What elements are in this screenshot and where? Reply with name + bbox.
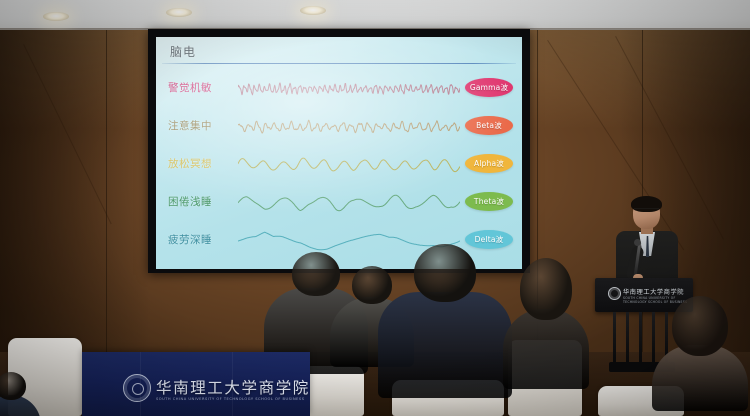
eeg-band-badge: Theta波: [465, 192, 513, 211]
ceiling-downlight-left: [43, 12, 69, 21]
ceiling-downlight-right: [300, 6, 326, 15]
university-seal-inner-icon: [132, 383, 144, 395]
eeg-wave-row: 放松冥想Alpha波: [156, 146, 522, 184]
eeg-waveform-theta: [238, 184, 460, 222]
eeg-wave-row-group: 警觉机敏Gamma波注意集中Beta波放松冥想Alpha波困倦浅睡Theta波疲…: [156, 70, 522, 260]
podium-leg: [652, 312, 655, 364]
podium-organization-cn: 华南理工大学商学院: [623, 287, 684, 296]
podium-leg: [613, 312, 616, 364]
eeg-wave-row: 警觉机敏Gamma波: [156, 70, 522, 108]
university-seal-icon: [123, 374, 151, 402]
eeg-waveform-alpha: [238, 146, 460, 184]
audience-head: [352, 266, 392, 304]
eeg-wave-label: 疲劳深睡: [168, 232, 236, 247]
wall-seam: [106, 30, 107, 360]
banner-organization-cn: 华南理工大学商学院: [156, 376, 310, 398]
audience-head: [672, 296, 728, 356]
eeg-wave-label: 警觉机敏: [168, 80, 236, 95]
podium-logo-icon: [608, 287, 621, 300]
podium-leg: [626, 312, 629, 364]
eeg-band-badge: Beta波: [465, 116, 513, 135]
ceiling-downlight-center: [166, 8, 192, 17]
slide-title-rule: [162, 63, 516, 64]
eeg-waveform-beta: [238, 108, 460, 146]
eeg-wave-label: 困倦浅睡: [168, 194, 236, 209]
eeg-band-badge: Gamma波: [465, 78, 513, 97]
presentation-photo-scene: 脑电 警觉机敏Gamma波注意集中Beta波放松冥想Alpha波困倦浅睡Thet…: [0, 0, 750, 416]
eeg-wave-label: 注意集中: [168, 118, 236, 133]
eeg-wave-row: 注意集中Beta波: [156, 108, 522, 146]
eeg-waveform-gamma: [238, 70, 460, 108]
audience-head: [292, 252, 340, 296]
slide-title: 脑电: [170, 43, 196, 60]
audience-head: [0, 372, 26, 400]
audience-head: [520, 258, 572, 320]
microphone-head: [634, 239, 641, 246]
eeg-wave-label: 放松冥想: [168, 156, 236, 171]
audience-torso: [378, 292, 512, 398]
banner-organization-en: SOUTH CHINA UNIVERSITY OF TECHNOLOGY SCH…: [156, 397, 305, 401]
eeg-wave-row: 困倦浅睡Theta波: [156, 184, 522, 222]
eeg-band-badge: Delta波: [465, 230, 513, 249]
speaker-glasses: [634, 208, 659, 214]
audience-torso: [503, 309, 589, 389]
wall-shadow-left: [0, 30, 150, 360]
projection-screen: 脑电 警觉机敏Gamma波注意集中Beta波放松冥想Alpha波困倦浅睡Thet…: [156, 37, 522, 269]
table-banner: 华南理工大学商学院 SOUTH CHINA UNIVERSITY OF TECH…: [82, 352, 310, 416]
audience-head: [414, 244, 476, 302]
podium-leg: [639, 312, 642, 364]
eeg-band-badge: Alpha波: [465, 154, 513, 173]
